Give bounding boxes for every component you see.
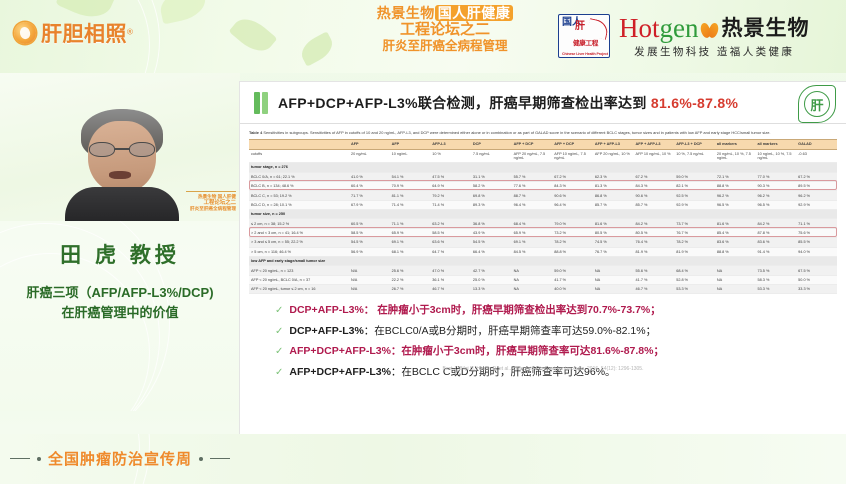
- table-cell: 71.4 %: [390, 200, 431, 209]
- table-cell: [552, 210, 593, 219]
- table-row-label: AFP < 20 ng/mL, BCLC 0/A, n = 37: [249, 275, 349, 284]
- slide-title: AFP+DCP+AFP-L3%联合检测，肝癌早期筛查检出率达到 81.6%-87…: [278, 93, 738, 113]
- table-cell: [552, 256, 593, 265]
- sensitivities-table: AFPAFPAFP-L3DCPAFP + DCPAFP + DCPAFP + A…: [249, 139, 837, 295]
- table-cell: 73.7 %: [674, 219, 715, 228]
- table-cell: 94.0 %: [796, 247, 837, 256]
- brand-text: 肝胆相照: [41, 23, 127, 46]
- table-col-header: GALAD: [796, 139, 837, 149]
- table-cell: 65.9 %: [390, 228, 431, 237]
- table-cell: [430, 163, 471, 172]
- table-col-header: AFP: [349, 139, 390, 149]
- table-cell: 53.3 %: [674, 285, 715, 294]
- bullet-strong-1: 小于3cm: [433, 345, 475, 357]
- table-caption: Table 4 Sensitivities in subgroups. Sens…: [249, 130, 837, 136]
- table-cell: 76.4 %: [634, 238, 675, 247]
- table-cell: 85.7 %: [634, 200, 675, 209]
- dash-icon: [10, 458, 30, 460]
- slide-body: Table 4 Sensitivities in subgroups. Sens…: [240, 124, 846, 379]
- table-cell: NA: [512, 285, 553, 294]
- table-cell: 46.7 %: [430, 285, 471, 294]
- table-cell: 85.4 %: [715, 228, 756, 237]
- society-seal-icon: 肝: [798, 85, 836, 123]
- table-cell: 67.2 %: [552, 172, 593, 181]
- table-cell: N/A: [349, 266, 390, 275]
- table-row-label: AFP < 20 ng/mL, n = 123: [249, 266, 349, 275]
- table-row-label: ≤ 2 cm, n = 38; 15.2 %: [249, 219, 349, 228]
- table-cell: 78.2 %: [674, 238, 715, 247]
- speaker-panel: 热景生物 国人肝健 工程论坛之二 肝炎至肝癌全病程管理 田 虎 教授 肝癌三项（…: [0, 73, 240, 411]
- table-col-header: all markers: [715, 139, 756, 149]
- table-cell: 60.4 %: [349, 181, 390, 190]
- table-row-label: low AFP and early stage/small tumor size: [249, 256, 349, 265]
- table-row: AFP < 20 ng/mL, n = 123N/A25.6 %47.0 %42…: [249, 266, 837, 275]
- table-cell: 69.1 %: [390, 238, 431, 247]
- table-cell: [715, 163, 756, 172]
- table-row-label: tumor size, n = 250: [249, 210, 349, 219]
- table-cell: [349, 163, 390, 172]
- table-col-header: AFP-L3 + DCP: [674, 139, 715, 149]
- table-cell: 67.5 %: [796, 266, 837, 275]
- table-cell: NA: [593, 285, 634, 294]
- dot-icon: [199, 457, 203, 461]
- table-row-label: BCLC 0/A, n = 61; 22.1 %: [249, 172, 349, 181]
- hotgen-wordmark: Hotgen: [619, 16, 698, 42]
- portrait-mouth: [109, 171, 131, 179]
- table-cell: [756, 163, 797, 172]
- bullet-strong-2: 70.7%-73.7%: [587, 304, 650, 316]
- table-cell: 53.3 %: [756, 285, 797, 294]
- bullet-strong-1: 小于3cm: [409, 304, 451, 316]
- speaker-video[interactable]: 热景生物 国人肝健 工程论坛之二 肝炎至肝癌全病程管理: [0, 73, 240, 221]
- table-cell: 81.1 %: [390, 191, 431, 200]
- table-cell: 81.3 %: [593, 181, 634, 190]
- bullet-item: ✓AFP+DCP+AFP-L3%：在肿瘤小于3cm时，肝癌早期筛查率可达81.6…: [275, 344, 837, 359]
- bullet-body-2: 时，肝癌早期筛查检出率达到: [451, 304, 588, 316]
- footer-banner: 全国肿瘤防治宣传周: [10, 448, 230, 469]
- table-cell: 68.4 %: [674, 266, 715, 275]
- table-section-row: tumor stage, n = 276: [249, 163, 837, 172]
- table-body: cutoffs20 ng/mL10 ng/mL10 %7.5 ng/mLAFP …: [249, 149, 837, 294]
- table-cell: 59.0 %: [674, 172, 715, 181]
- table-cell: [471, 256, 512, 265]
- title-bar-2: [262, 92, 268, 114]
- table-cell: [674, 210, 715, 219]
- table-cell: 96.2 %: [715, 191, 756, 200]
- registered-mark: ®: [127, 28, 133, 37]
- table-row-label: BCLC D, n = 28; 10.1 %: [249, 200, 349, 209]
- bullet-text: DCP+AFP-L3%： 在肿瘤小于3cm时，肝癌早期筛查检出率达到70.7%-…: [289, 303, 660, 317]
- table-cell: 10 ng/mL: [390, 149, 431, 162]
- table-cell: [471, 210, 512, 219]
- table-cell: 83.6 %: [715, 238, 756, 247]
- table-cell: 72.1 %: [715, 172, 756, 181]
- table-cell: 76.7 %: [674, 228, 715, 237]
- table-cell: 88.8 %: [715, 181, 756, 190]
- table-row-label: > 2 and < 3 cm, n = 41; 16.4 %: [249, 228, 349, 237]
- table-cell: [715, 256, 756, 265]
- check-icon: ✓: [275, 345, 283, 359]
- check-icon: ✓: [275, 304, 283, 318]
- table-cell: 75.6 %: [796, 228, 837, 237]
- table-row-label: > 3 and ≤ 5 cm, n = 55; 22.2 %: [249, 238, 349, 247]
- table-cell: AFP 10 ng/mL, 7.5 ng/mL: [552, 149, 593, 162]
- table-cell: 73.2 %: [552, 228, 593, 237]
- table-cell: 84.3 %: [552, 181, 593, 190]
- table-cell: 96.5 %: [756, 200, 797, 209]
- glasses-lens-left: [89, 142, 115, 157]
- table-cell: 80.5 %: [634, 228, 675, 237]
- table-col-header: AFP-L3: [430, 139, 471, 149]
- bullet-item: ✓DCP+AFP-L3%：在BCLC0/A或B分期时，肝癌早期筛查率可达59.0…: [275, 324, 837, 339]
- table-col-header: all markers: [756, 139, 797, 149]
- forum-title-line3: 肝炎至肝癌全病程管理: [340, 40, 550, 54]
- table-cell: 41.7 %: [634, 275, 675, 284]
- table-row: BCLC B, n = 134; 48.6 %60.4 %70.9 %64.9 …: [249, 181, 837, 190]
- table-row-label: BCLC C, n = 53; 19.2 %: [249, 191, 349, 200]
- table-cell: 79.0 %: [552, 219, 593, 228]
- table-cell: [552, 163, 593, 172]
- table-cell: 47.0 %: [430, 266, 471, 275]
- table-cell: 81.9 %: [634, 247, 675, 256]
- watermark-line3: 肝炎至肝癌全病程管理: [186, 206, 236, 211]
- table-cell: [390, 163, 431, 172]
- table-cell: 89.3 %: [471, 200, 512, 209]
- table-cell: NA: [715, 275, 756, 284]
- forum-title-line1-highlight: 国人肝健康: [435, 5, 514, 21]
- app-root: 肝胆相照® 热景生物国人肝健康 工程论坛之二 肝炎至肝癌全病程管理 国人 肝 健…: [0, 0, 846, 484]
- table-cell: 96.4 %: [552, 200, 593, 209]
- table-cell: 60.5 %: [349, 219, 390, 228]
- table-cell: 81.6 %: [593, 219, 634, 228]
- table-cell: 22.2 %: [390, 275, 431, 284]
- table-cell: 88.8 %: [715, 247, 756, 256]
- table-cell: 96.2 %: [756, 191, 797, 200]
- speaker-name: 田 虎 教授: [0, 239, 240, 269]
- table-cell: N/A: [349, 285, 390, 294]
- table-cell: [674, 256, 715, 265]
- check-icon: ✓: [275, 325, 283, 339]
- table-cell: 70.9 %: [390, 181, 431, 190]
- speaker-topic-line1: 肝癌三项（AFP/AFP-L3%/DCP): [0, 283, 240, 303]
- title-bar-1: [254, 92, 260, 114]
- table-cell: 81.6 %: [715, 219, 756, 228]
- hotgen-hot: Hot: [619, 13, 660, 43]
- table-cell: [674, 163, 715, 172]
- video-watermark: 热景生物 国人肝健 工程论坛之二 肝炎至肝癌全病程管理: [186, 191, 236, 211]
- table-cell: 68.1 %: [390, 247, 431, 256]
- table-row: > 2 and < 3 cm, n = 41; 16.4 %58.5 %65.9…: [249, 228, 837, 237]
- table-cell: 54.5 %: [349, 238, 390, 247]
- table-cell: AFP 20 ng/mL, 7.5 ng/mL: [512, 149, 553, 162]
- bullet-body-1: ：在肿瘤: [391, 345, 433, 357]
- table-cell: 54.5 %: [471, 238, 512, 247]
- table-cell: 33.3 %: [796, 285, 837, 294]
- bullet-text: DCP+AFP-L3%：在BCLC0/A或B分期时，肝癌早期筛查率可达59.0%…: [289, 324, 656, 338]
- table-cell: 90.6 %: [634, 191, 675, 200]
- table-cell: 84.2 %: [634, 219, 675, 228]
- reference-citation: Best J, Bilgi H, Heider D, et al.. Zeits…: [240, 366, 846, 372]
- table-cell: [349, 210, 390, 219]
- table-cell: [512, 210, 553, 219]
- bullet-body-2: 时，肝癌早期筛查率可达: [475, 345, 591, 357]
- clhp-cn-bottom: 肝: [575, 17, 585, 32]
- table-cell: [796, 210, 837, 219]
- table-cell: 68.4 %: [512, 219, 553, 228]
- table-cell: 88.8 %: [552, 247, 593, 256]
- table-cell: 85.7 %: [593, 200, 634, 209]
- table-cell: 71.7 %: [349, 191, 390, 200]
- table-cell: 71.4 %: [430, 200, 471, 209]
- table-row-label: BCLC B, n = 134; 48.6 %: [249, 181, 349, 190]
- table-cell: AFP 20 ng/mL, 10 %: [593, 149, 634, 162]
- table-cell: NA: [593, 275, 634, 284]
- bullet-marker-label: DCP+AFP-L3%: [289, 325, 363, 337]
- table-cell: 36.8 %: [471, 219, 512, 228]
- table-cell: 92.5 %: [674, 191, 715, 200]
- table-cell: NA: [512, 275, 553, 284]
- table-cell: 58.5 %: [349, 228, 390, 237]
- china-liver-health-project-logo: 国人 肝 健康工程 Chinese Liver Health Project: [558, 14, 610, 58]
- brand-name: 肝胆相照®: [41, 18, 133, 48]
- table-row: > 5 cm, n = 116; 46.4 %56.9 %68.1 %64.7 …: [249, 247, 837, 256]
- table-cell: 76.7 %: [593, 247, 634, 256]
- table-cell: 20 ng/mL, 10 %, 7.5 ng/mL: [715, 149, 756, 162]
- table-col-header: AFP + DCP: [512, 139, 553, 149]
- speaker-info: 田 虎 教授 肝癌三项（AFP/AFP-L3%/DCP) 在肝癌管理中的价值: [0, 221, 240, 323]
- table-row: BCLC 0/A, n = 61; 22.1 %41.0 %54.1 %47.5…: [249, 172, 837, 181]
- table-cell: [634, 256, 675, 265]
- table-cell: 84.5 %: [512, 247, 553, 256]
- clhp-english: Chinese Liver Health Project: [560, 52, 610, 56]
- bullet-text: AFP+DCP+AFP-L3%：在肿瘤小于3cm时，肝癌早期筛查率可达81.6%…: [289, 344, 664, 358]
- table-cell: [430, 256, 471, 265]
- table-cell: 69.1 %: [512, 238, 553, 247]
- table-cell: 64.9 %: [430, 181, 471, 190]
- table-row-label: cutoffs: [249, 149, 349, 162]
- slide-title-main: AFP+DCP+AFP-L3%联合检测，肝癌早期筛查检出率达到: [278, 95, 647, 111]
- table-cell: 59.0 %: [552, 266, 593, 275]
- table-cell: [756, 256, 797, 265]
- table-cell: 79.2 %: [430, 191, 471, 200]
- table-cell: 10 ng/mL, 10 %, 7.5 ng/mL: [756, 149, 797, 162]
- forum-title-line1: 热景生物国人肝健康: [340, 6, 550, 21]
- table-row: BCLC C, n = 53; 19.2 %71.7 %81.1 %79.2 %…: [249, 191, 837, 200]
- table-col-header: AFP + AFP-L3: [634, 139, 675, 149]
- table-cell: 65.9 %: [512, 228, 553, 237]
- bullet-marker-label: DCP+AFP-L3%: [289, 304, 363, 316]
- table-cell: 71.1 %: [796, 219, 837, 228]
- dash-icon: [210, 458, 230, 460]
- table-cell: 64.7 %: [430, 247, 471, 256]
- table-cell: 66.4 %: [471, 247, 512, 256]
- leaf-decoration: [229, 12, 278, 59]
- bullet-body-1: ： 在肿瘤: [364, 304, 409, 316]
- table-cell: 55.7 %: [512, 172, 553, 181]
- table-row-label: tumor stage, n = 276: [249, 163, 349, 172]
- table-cell: 89.5 %: [796, 181, 837, 190]
- table-cell: 81.9 %: [674, 247, 715, 256]
- sponsor-block: 国人 肝 健康工程 Chinese Liver Health Project H…: [558, 12, 809, 59]
- hotgen-slogan: 发展生物科技 造福人类健康: [619, 44, 809, 59]
- butterfly-icon: [701, 22, 718, 42]
- page-header: 肝胆相照® 热景生物国人肝健康 工程论坛之二 肝炎至肝癌全病程管理 国人 肝 健…: [0, 0, 846, 73]
- hotgen-logo: Hotgen 热景生物 发展生物科技 造福人类健康: [619, 12, 809, 59]
- table-cell: 90.3 %: [756, 181, 797, 190]
- speaker-topic: 肝癌三项（AFP/AFP-L3%/DCP) 在肝癌管理中的价值: [0, 283, 240, 323]
- table-cell: 91.4 %: [756, 247, 797, 256]
- table-cell: 92.9 %: [674, 200, 715, 209]
- table-cell: 20 ng/mL: [349, 149, 390, 162]
- table-cell: NA: [715, 266, 756, 275]
- table-cell: NA: [512, 266, 553, 275]
- table-cell: [471, 163, 512, 172]
- table-cell: 80.5 %: [593, 228, 634, 237]
- table-cell: 52.8 %: [674, 275, 715, 284]
- table-cell: 69.8 %: [471, 191, 512, 200]
- forum-title-line2: 工程论坛之二: [340, 22, 550, 38]
- bullet-strong-2: 81.6%-87.8%: [590, 345, 653, 357]
- table-col-header: DCP: [471, 139, 512, 149]
- table-cell: 26.7 %: [390, 285, 431, 294]
- watermark-rule: [186, 191, 236, 192]
- slide-title-accent: 81.6%-87.8%: [651, 95, 738, 111]
- table-cell: 78.2 %: [552, 238, 593, 247]
- table-row: AFP < 20 ng/mL, tumor ≤ 2 cm, n = 16N/A2…: [249, 285, 837, 294]
- bullet-marker-label: AFP+DCP+AFP-L3%: [289, 345, 391, 357]
- table-cell: [512, 163, 553, 172]
- table-cell: 41.7 %: [552, 275, 593, 284]
- table-cell: [390, 256, 431, 265]
- table-cell: 55.6 %: [634, 266, 675, 275]
- table-cell: [796, 256, 837, 265]
- portrait-body: [65, 187, 179, 221]
- hotgen-gen: gen: [660, 13, 699, 43]
- table-cell: 50.0 %: [796, 275, 837, 284]
- glasses-bridge: [115, 148, 129, 150]
- speaker-portrait: [63, 109, 181, 221]
- table-cell: 90.6 %: [552, 191, 593, 200]
- glasses-icon: [89, 142, 155, 157]
- table-cell: 77.0 %: [756, 172, 797, 181]
- table-col-header: AFP + AFP-L3: [593, 139, 634, 149]
- bullet-body-1: ：在BCLC0/A或B分期时，肝癌早期筛查率可达59.0%-82.1%；: [364, 325, 656, 337]
- table-row: AFP < 20 ng/mL, BCLC 0/A, n = 37N/A22.2 …: [249, 275, 837, 284]
- table-cell: 25.0 %: [471, 275, 512, 284]
- liver-logo-icon: [14, 22, 36, 44]
- table-cell: AFP 10 ng/mL, 10 %: [634, 149, 675, 162]
- table-cell: 40.0 %: [552, 285, 593, 294]
- table-row: ≤ 2 cm, n = 38; 15.2 %60.5 %71.1 %63.2 %…: [249, 219, 837, 228]
- table-cell: 96.4 %: [512, 200, 553, 209]
- table-cell: 58.2 %: [471, 181, 512, 190]
- table-cell: [390, 210, 431, 219]
- speaker-topic-line2: 在肝癌管理中的价值: [0, 303, 240, 323]
- table-cell: 86.8 %: [593, 191, 634, 200]
- portrait-face: [88, 121, 156, 193]
- table-cell: 77.6 %: [512, 181, 553, 190]
- slide-title-bar: AFP+DCP+AFP-L3%联合检测，肝癌早期筛查检出率达到 81.6%-87…: [240, 82, 846, 124]
- table-cell: 13.3 %: [471, 285, 512, 294]
- table-cell: 46.7 %: [634, 285, 675, 294]
- table-cell: 84.2 %: [756, 219, 797, 228]
- table-section-row: low AFP and early stage/small tumor size: [249, 256, 837, 265]
- table-cell: 92.9 %: [796, 200, 837, 209]
- table-section-row: tumor size, n = 250: [249, 210, 837, 219]
- forum-title: 热景生物国人肝健康 工程论坛之二 肝炎至肝癌全病程管理: [340, 6, 550, 54]
- hotgen-chinese-name: 热景生物: [721, 12, 809, 42]
- clhp-subtitle: 健康工程: [573, 37, 598, 47]
- glasses-lens-right: [129, 142, 155, 157]
- swoosh-icon: [586, 18, 609, 40]
- presentation-slide[interactable]: AFP+DCP+AFP-L3%联合检测，肝癌早期筛查检出率达到 81.6%-87…: [240, 82, 846, 434]
- hotgen-logo-row: Hotgen 热景生物: [619, 12, 809, 42]
- table-cell: 96.5 %: [715, 200, 756, 209]
- table-cell: 56.9 %: [349, 247, 390, 256]
- table-caption-label: Table 4: [249, 130, 262, 135]
- table-cell: 63.2 %: [430, 219, 471, 228]
- table-col-header: AFP: [390, 139, 431, 149]
- forum-title-line1-pre: 热景生物: [377, 5, 435, 21]
- table-cell: 67.2 %: [796, 172, 837, 181]
- table-cell: 43.9 %: [471, 228, 512, 237]
- table-cell: NA: [593, 266, 634, 275]
- table-cell: 74.5 %: [593, 238, 634, 247]
- bullet-suffix: ；: [653, 345, 664, 357]
- table-cell: 47.5 %: [430, 172, 471, 181]
- table-cell: 83.6 %: [756, 238, 797, 247]
- table-row: > 3 and ≤ 5 cm, n = 55; 22.2 %54.5 %69.1…: [249, 238, 837, 247]
- table-cell: 63.6 %: [430, 238, 471, 247]
- table-cell: 41.0 %: [349, 172, 390, 181]
- table-cell: 7.5 ng/mL: [471, 149, 512, 162]
- table-row: BCLC D, n = 28; 10.1 %67.9 %71.4 %71.4 %…: [249, 200, 837, 209]
- table-cell: [512, 256, 553, 265]
- page-footer: 全国肿瘤防治宣传周: [0, 434, 846, 484]
- table-cell: -0.63: [796, 149, 837, 162]
- table-cell: 88.7 %: [512, 191, 553, 200]
- table-head: AFPAFPAFP-L3DCPAFP + DCPAFP + DCPAFP + A…: [249, 139, 837, 149]
- table-cell: 25.6 %: [390, 266, 431, 275]
- table-cell: 31.1 %: [471, 172, 512, 181]
- table-cell: [430, 210, 471, 219]
- table-cell: 67.9 %: [349, 200, 390, 209]
- table-cell: [349, 256, 390, 265]
- bullet-item: ✓DCP+AFP-L3%： 在肿瘤小于3cm时，肝癌早期筛查检出率达到70.7%…: [275, 303, 837, 318]
- table-cell: [796, 163, 837, 172]
- table-cell: 84.3 %: [634, 181, 675, 190]
- table-cell: N/A: [349, 275, 390, 284]
- table-cell: 82.1 %: [674, 181, 715, 190]
- title-accent-bars: [254, 92, 268, 114]
- table-cell: 96.2 %: [796, 191, 837, 200]
- table-cell: NA: [715, 285, 756, 294]
- table-cell: [593, 256, 634, 265]
- footer-text: 全国肿瘤防治宣传周: [48, 448, 192, 469]
- table-col-header: [249, 139, 349, 149]
- bullet-suffix: ；: [650, 304, 661, 316]
- table-cell: [756, 210, 797, 219]
- table-cell: 10 %, 7.5 ng/mL: [674, 149, 715, 162]
- seal-glyph: 肝: [798, 95, 836, 114]
- table-cell: 62.3 %: [593, 172, 634, 181]
- leaf-decoration: [297, 31, 337, 66]
- table-row-label: AFP < 20 ng/mL, tumor ≤ 2 cm, n = 16: [249, 285, 349, 294]
- table-cell: 10 %: [430, 149, 471, 162]
- table-cell: 87.8 %: [756, 228, 797, 237]
- table-row: cutoffs20 ng/mL10 ng/mL10 %7.5 ng/mLAFP …: [249, 149, 837, 162]
- table-cell: [634, 163, 675, 172]
